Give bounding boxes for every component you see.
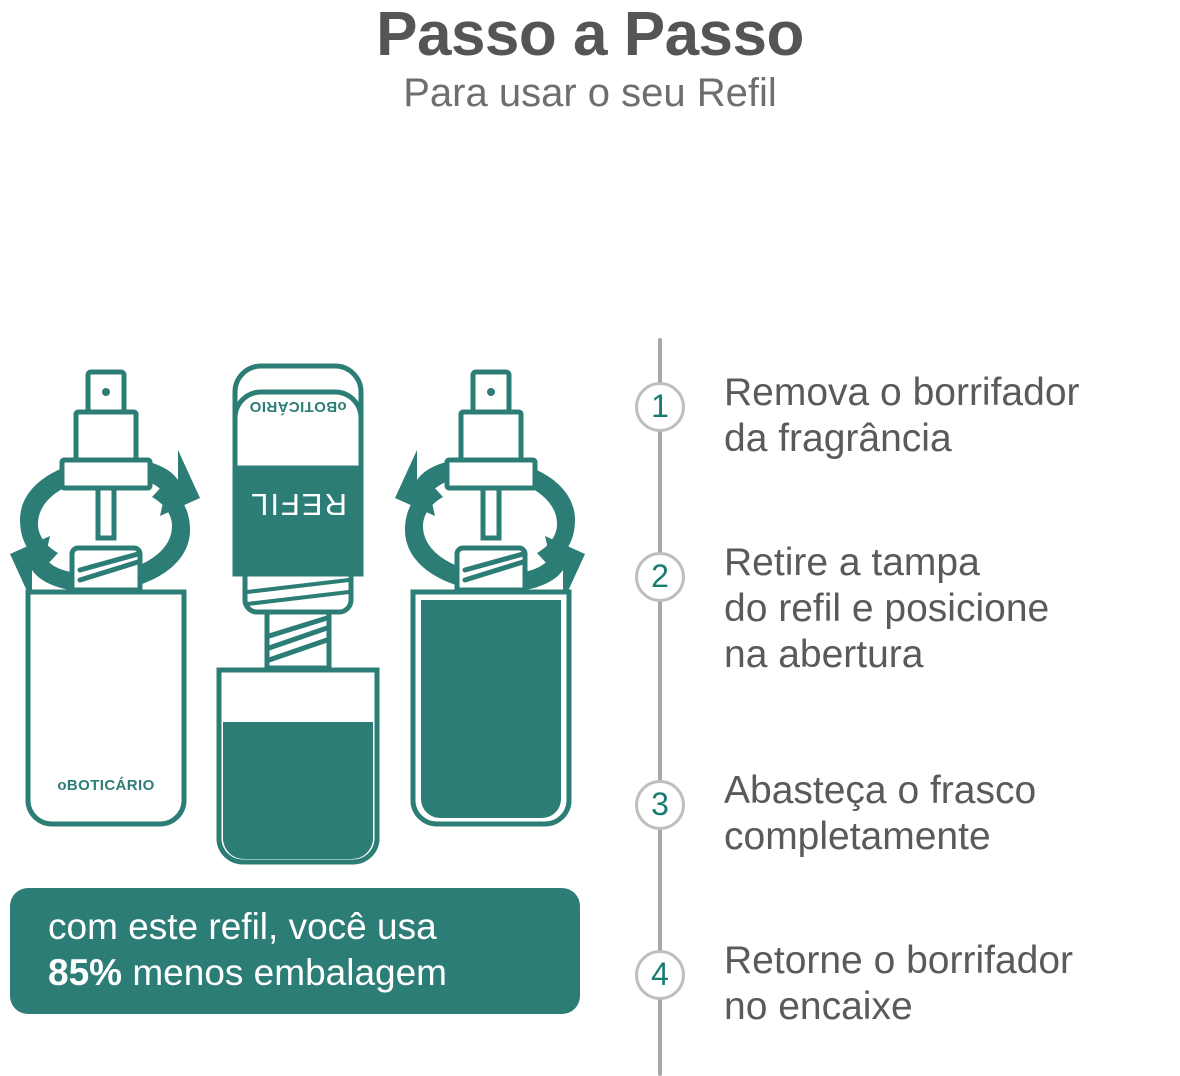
step-number-2: 2 — [651, 560, 669, 592]
illustration-remove-sprayer: oBOTICÁRIO — [10, 330, 200, 890]
step-marker-3: 3 — [635, 780, 685, 830]
promo-line-1: com este refil, você usa — [48, 904, 580, 950]
step-number-3: 3 — [651, 788, 669, 820]
promo-line-2-rest: menos embalagem — [122, 952, 447, 993]
sprayer-icon — [447, 372, 535, 538]
sprayer-nozzle-dot-icon — [102, 388, 110, 396]
sprayer-nozzle-dot-icon — [487, 388, 495, 396]
step-text-1: Remova o borrifador da fragrância — [724, 370, 1180, 462]
step-number-4: 4 — [651, 958, 669, 990]
step-number-1: 1 — [651, 390, 669, 422]
step-marker-2: 2 — [635, 552, 685, 602]
illustration-return-sprayer — [395, 330, 585, 890]
illustrations-panel: oBOTICÁRIO oBOTICÁRIO REFIL — [0, 330, 620, 890]
refill-label: REFIL — [249, 487, 347, 522]
steps-panel: 1 Remova o borrifador da fragrância 2 Re… — [620, 0, 1180, 1076]
bottle-brand-label: oBOTICÁRIO — [57, 777, 154, 794]
liquid-level — [223, 722, 373, 859]
bottle-body-filling — [219, 670, 377, 862]
refill-brand-label: oBOTICÁRIO — [249, 398, 346, 415]
promo-line-2: 85% menos embalagem — [48, 950, 580, 996]
bottle-neck — [457, 548, 525, 590]
bottle-neck — [72, 548, 140, 590]
refill-cap-ring — [245, 574, 351, 612]
sprayer-icon — [62, 372, 150, 538]
illustration-pour-refill: oBOTICÁRIO REFIL — [205, 330, 390, 890]
step-text-4: Retorne o borrifador no encaixe — [724, 938, 1180, 1030]
promo-percentage: 85% — [48, 952, 122, 993]
step-text-2: Retire a tampa do refil e posicione na a… — [724, 540, 1180, 678]
bottle-body-full — [413, 592, 569, 824]
step-marker-4: 4 — [635, 950, 685, 1000]
step-marker-1: 1 — [635, 382, 685, 432]
step-text-3: Abasteça o frasco completamente — [724, 768, 1180, 860]
bottle-neck-threaded — [267, 612, 329, 668]
refill-bottle-inverted: oBOTICÁRIO REFIL — [235, 366, 361, 574]
promo-badge: com este refil, você usa 85% menos embal… — [10, 888, 580, 1014]
